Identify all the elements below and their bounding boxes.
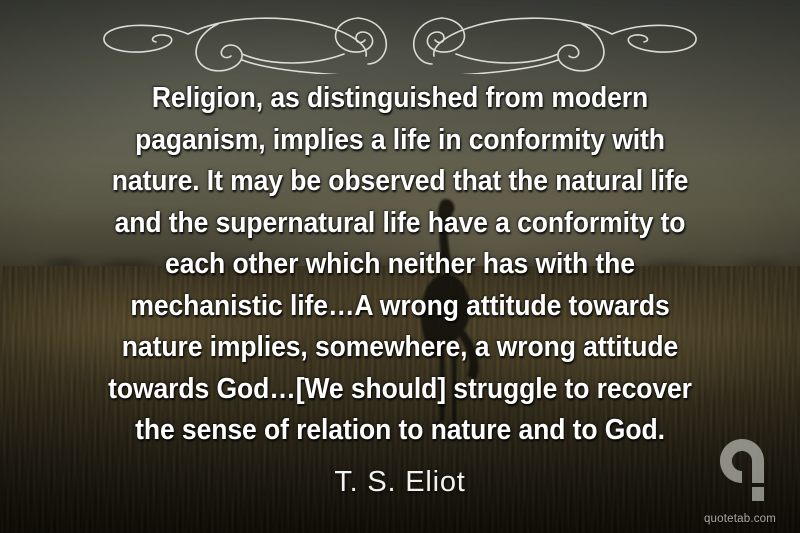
content-layer: Religion, as distinguished from modern p… (0, 0, 800, 533)
watermark[interactable]: quotetab.com (688, 439, 792, 527)
quotetab-q-logo-icon (720, 439, 772, 501)
flourish-ornament-icon (100, 8, 700, 74)
quote-card: Religion, as distinguished from modern p… (0, 0, 800, 533)
author-name: T. S. Eliot (0, 466, 800, 499)
quote-text: Religion, as distinguished from modern p… (56, 78, 744, 452)
watermark-label: quotetab.com (688, 513, 792, 525)
